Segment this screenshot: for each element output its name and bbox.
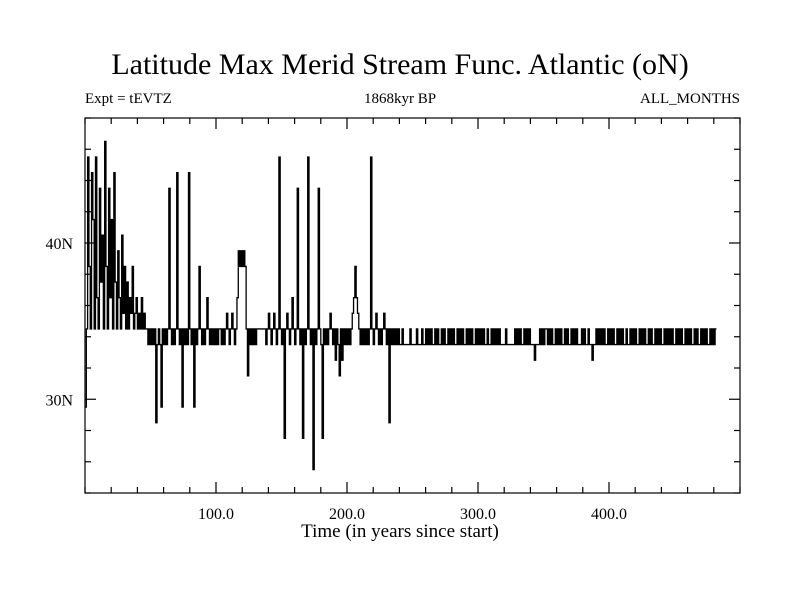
y-tick-label: 40N [45, 236, 73, 253]
y-tick-label: 30N [45, 392, 73, 409]
chart-figure: Latitude Max Merid Stream Func. Atlantic… [0, 0, 800, 600]
data-series-line [85, 141, 716, 469]
axis-ticks-group [85, 118, 740, 493]
plot-frame [85, 118, 740, 493]
x-axis-label: Time (in years since start) [0, 521, 800, 543]
plot-area: 100.0200.0300.0400.030N40N [0, 0, 800, 600]
